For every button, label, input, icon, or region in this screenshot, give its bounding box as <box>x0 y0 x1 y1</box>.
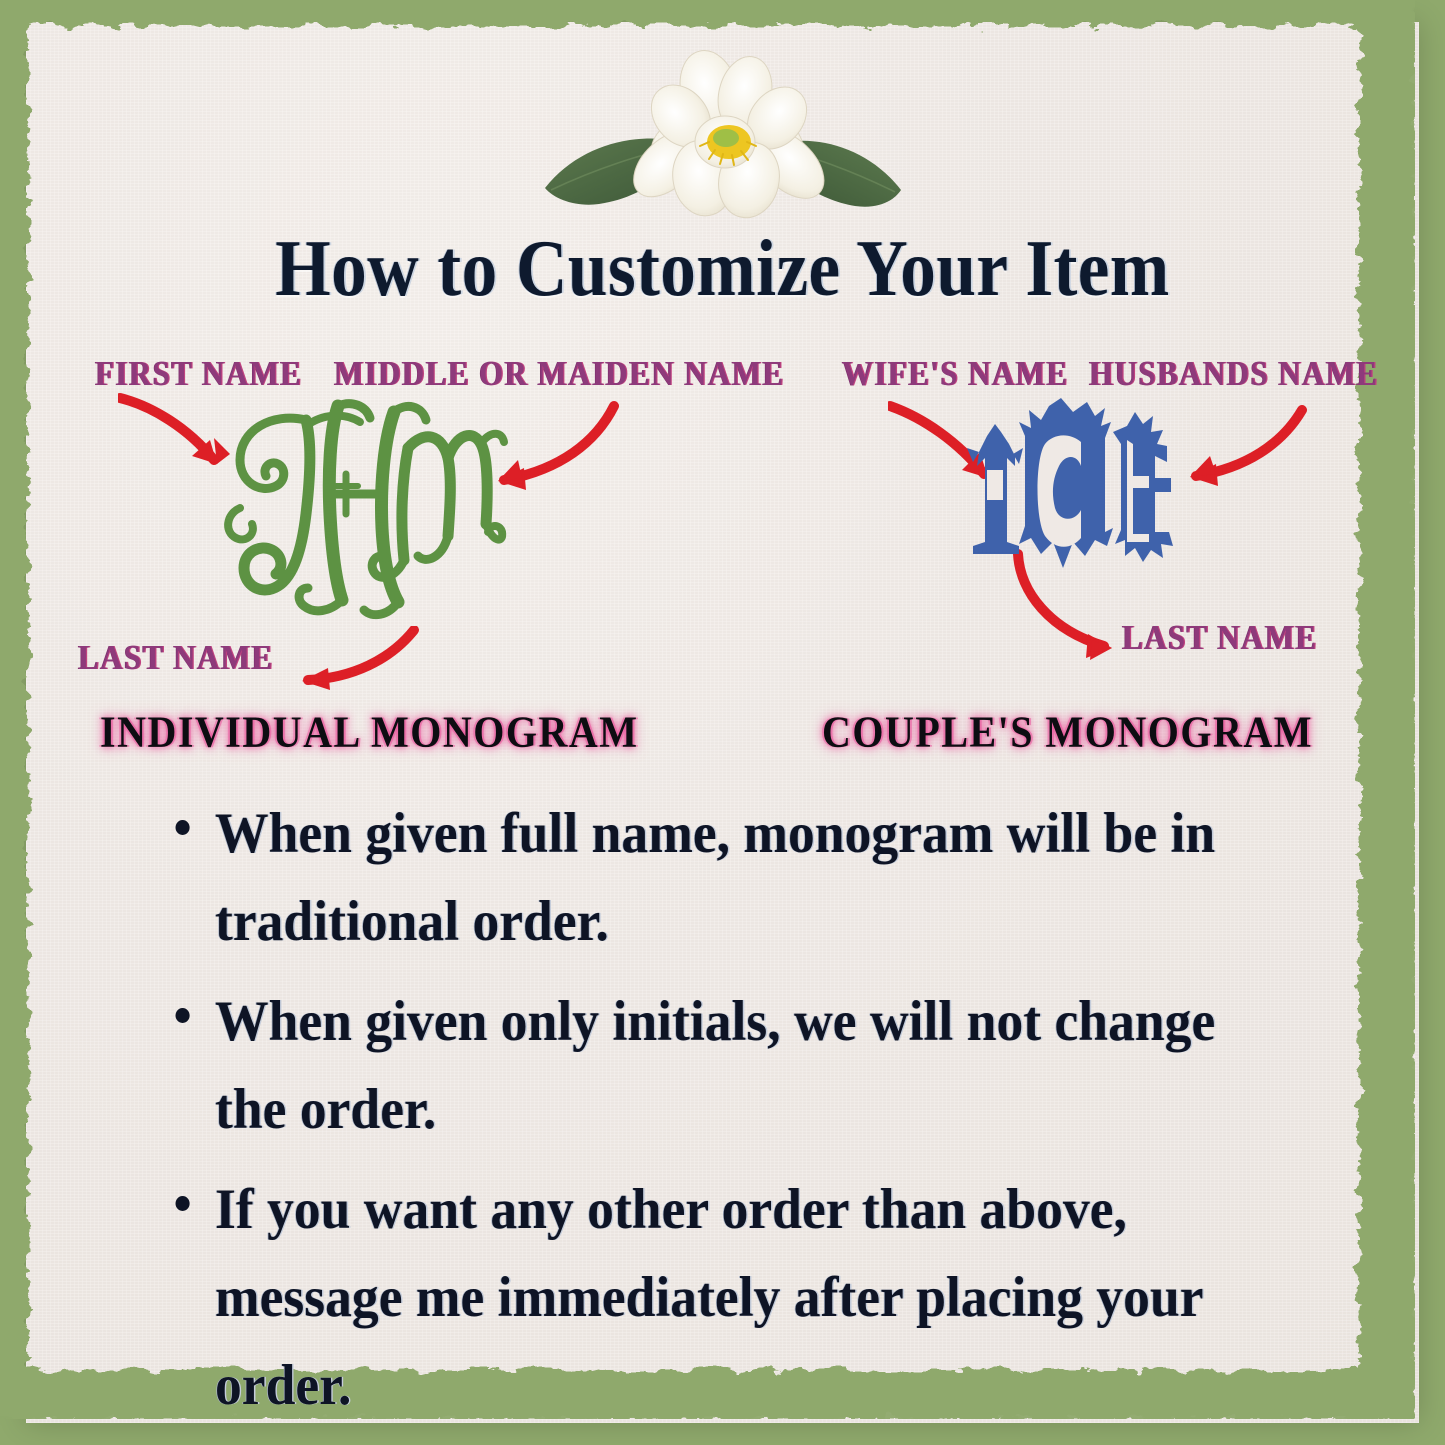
label-last-name-individual: LAST NAME <box>78 638 273 678</box>
bullet-dot-icon <box>176 1196 190 1211</box>
instruction-text: When given only initials, we will not ch… <box>215 990 1215 1141</box>
magnolia-flower-icon <box>533 38 913 228</box>
list-item: If you want any other order than above, … <box>168 1166 1246 1430</box>
individual-monogram-jhm <box>210 390 510 630</box>
magnolia-flower-decoration <box>0 38 1445 228</box>
instructions-list: When given full name, monogram will be i… <box>168 790 1315 1442</box>
list-item: When given full name, monogram will be i… <box>168 790 1246 966</box>
label-husband-name: HUSBANDS NAME <box>1089 354 1378 394</box>
label-middle-name: MIDDLE OR MAIDEN NAME <box>334 354 784 394</box>
instruction-text: If you want any other order than above, … <box>215 1178 1203 1417</box>
list-item: When given only initials, we will not ch… <box>168 978 1246 1154</box>
label-last-name-couple: LAST NAME <box>1122 618 1317 658</box>
caption-couple-monogram: COUPLE'S MONOGRAM <box>822 706 1313 758</box>
couple-monogram-ace <box>935 392 1195 592</box>
bullet-dot-icon <box>176 1008 190 1023</box>
instruction-text: When given full name, monogram will be i… <box>215 802 1215 953</box>
page-title: How to Customize Your Item <box>87 222 1359 315</box>
bullet-dot-icon <box>176 820 190 835</box>
caption-individual-monogram: INDIVIDUAL MONOGRAM <box>100 706 639 758</box>
label-first-name: FIRST NAME <box>95 354 302 394</box>
label-wife-name: WIFE'S NAME <box>842 354 1068 394</box>
